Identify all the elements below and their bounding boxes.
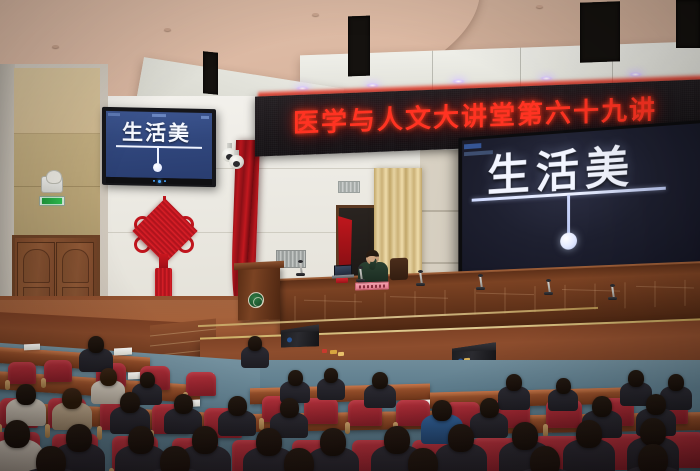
microphone-head-icon (418, 270, 423, 273)
wall-air-vent (338, 181, 360, 193)
audience-head (284, 448, 314, 471)
monitor-bezel-controls[interactable] (106, 177, 212, 185)
seat-armrest (5, 380, 10, 390)
microphone-base (296, 273, 305, 276)
side-slide-title: 生活美 (122, 116, 191, 147)
audience-head (4, 420, 30, 448)
ceiling-vent-panel (348, 16, 370, 77)
audience-head (640, 418, 666, 446)
paper-sheet (114, 348, 132, 356)
audience-seat[interactable] (8, 362, 36, 384)
audience-seat[interactable] (44, 360, 72, 382)
audience-head (638, 444, 668, 471)
audience-head (288, 370, 303, 386)
audience-head (646, 394, 666, 415)
slide-divider-line (116, 145, 202, 149)
audience-head (668, 374, 684, 391)
audience-head (256, 428, 282, 456)
audience-head (160, 446, 190, 471)
laptop (332, 264, 354, 278)
audience-seat[interactable] (304, 398, 338, 424)
audience-head (280, 398, 299, 418)
screen-corner-tag (201, 116, 209, 119)
audience-head (432, 400, 452, 421)
side-monitor-surface: 生活美 (106, 111, 212, 179)
audience-head (100, 368, 117, 386)
emergency-light-icon (41, 176, 63, 193)
main-screen-surface: 生活美 (462, 123, 700, 279)
paper-sheet (24, 344, 40, 351)
audience-head (120, 392, 140, 413)
audience-head (128, 426, 154, 454)
audience-head (372, 372, 388, 389)
speaker-podium (238, 265, 280, 320)
presenter-hand (369, 256, 375, 262)
presenter-nameplate (355, 281, 389, 290)
lecture-hall-photo: 医学与人文大讲堂第六十九讲 生活美 生活美 (0, 0, 700, 471)
screen-corner-tag (108, 113, 120, 116)
audience-head (324, 368, 338, 383)
microphone-base (544, 292, 553, 295)
audience-head (448, 424, 474, 452)
audience-head (174, 394, 193, 414)
audience-head (66, 424, 92, 452)
slide-dot-marker (560, 232, 577, 250)
stage-prop (338, 352, 344, 356)
microphone-base (476, 287, 485, 290)
audience-head (408, 448, 438, 471)
audience-head (320, 428, 346, 456)
table-red-object (336, 278, 348, 283)
microphone-head-icon (358, 266, 363, 269)
microphone-head-icon (610, 284, 615, 287)
audience-head (16, 384, 36, 405)
audience-head (530, 446, 560, 471)
microphone-head-icon (298, 260, 303, 263)
microphone-base (608, 297, 617, 300)
audience-head (248, 336, 262, 351)
microphone-base (416, 283, 425, 286)
audience-head (140, 372, 155, 388)
audience-head (512, 422, 538, 450)
smoke-detector-icon (52, 45, 59, 48)
audience-head (576, 420, 602, 448)
ceiling-vent-panel (580, 1, 620, 62)
dome-camera-icon (229, 150, 242, 167)
audience-head (480, 398, 499, 418)
audience-head (384, 426, 410, 454)
ceiling-vent-panel (203, 51, 218, 95)
stage-prop (322, 349, 327, 353)
slide-stem-line (567, 195, 570, 237)
microphone-base (356, 279, 365, 282)
screen-corner-tag (464, 143, 481, 149)
seat-armrest (97, 426, 102, 440)
smoke-detector-icon (536, 5, 543, 8)
seat-armrest (345, 422, 350, 434)
audience-head (88, 336, 104, 353)
ceiling-vent-panel (676, 0, 700, 48)
seat-armrest (41, 378, 46, 388)
audience-head (556, 378, 571, 394)
microphone-head-icon (478, 274, 483, 277)
audience-head (506, 374, 522, 391)
audience-seat[interactable] (186, 372, 216, 396)
microphone-head-icon (546, 279, 551, 282)
audience-head (628, 370, 644, 387)
stage-prop (330, 350, 337, 354)
side-monitor[interactable]: 生活美 (102, 107, 216, 187)
seat-armrest (45, 424, 50, 438)
audience-head (62, 388, 82, 409)
smoke-detector-icon (164, 28, 171, 31)
wall-wood-panel-upper (14, 68, 100, 134)
university-crest-icon (248, 292, 264, 308)
smoke-detector-icon (312, 13, 319, 16)
audience-head (228, 396, 247, 416)
audience-head (192, 426, 218, 454)
audience-head (592, 396, 612, 417)
presenter-chair (390, 258, 408, 281)
exit-sign (39, 196, 65, 206)
slide-dot-marker (153, 163, 162, 172)
audience-head (36, 446, 66, 471)
